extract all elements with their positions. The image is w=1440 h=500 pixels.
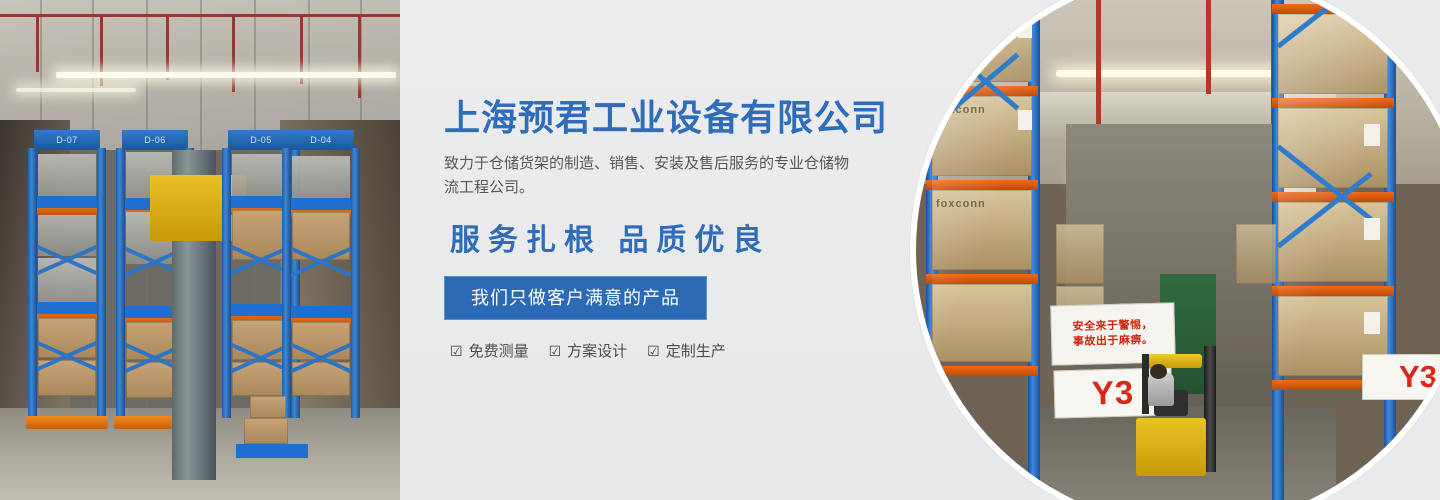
aisle-sign-label: Y3 bbox=[1091, 373, 1134, 412]
feature-label: 免费测量 bbox=[469, 340, 529, 361]
feature-label: 定制生产 bbox=[666, 340, 726, 361]
aisle-sign-secondary: Y3 bbox=[1362, 354, 1440, 400]
forklift-body bbox=[1136, 418, 1206, 476]
rack-label: D-05 bbox=[228, 130, 294, 150]
check-icon: ☑ bbox=[647, 344, 660, 358]
check-icon: ☑ bbox=[450, 344, 463, 358]
company-subtitle: 致力于仓储货架的制造、销售、安装及售后服务的专业仓储物流工程公司。 bbox=[444, 152, 856, 200]
carton-brand: foxconn bbox=[936, 198, 986, 210]
operator-head bbox=[1150, 364, 1167, 379]
rack-label: D-06 bbox=[122, 130, 188, 150]
hero-banner: D-07 D-06 bbox=[0, 0, 1440, 500]
right-photo-wrap: foxconn foxconn foxconn bbox=[920, 0, 1440, 500]
aisle-sign-secondary-label: Y3 bbox=[1399, 359, 1437, 395]
left-warehouse-photo: D-07 D-06 bbox=[0, 0, 400, 500]
feature-item: ☑ 方案设计 bbox=[549, 340, 628, 361]
forklift bbox=[1132, 346, 1228, 476]
carton-brand: foxconn bbox=[936, 10, 986, 22]
rack-label: D-04 bbox=[288, 130, 354, 150]
feature-item: ☑ 定制生产 bbox=[647, 340, 726, 361]
right-warehouse-photo: foxconn foxconn foxconn bbox=[916, 0, 1440, 500]
feature-label: 方案设计 bbox=[567, 340, 627, 361]
check-icon: ☑ bbox=[549, 344, 562, 358]
rack-bay: D-07 bbox=[28, 148, 106, 418]
rack-bay: D-04 bbox=[282, 148, 360, 418]
feature-item: ☑ 免费测量 bbox=[450, 340, 529, 361]
rack-label: D-07 bbox=[34, 130, 100, 150]
rack-bay: foxconn foxconn foxconn bbox=[916, 0, 1056, 500]
cta-button[interactable]: 我们只做客户满意的产品 bbox=[444, 276, 707, 320]
rack-bay bbox=[1268, 0, 1418, 500]
